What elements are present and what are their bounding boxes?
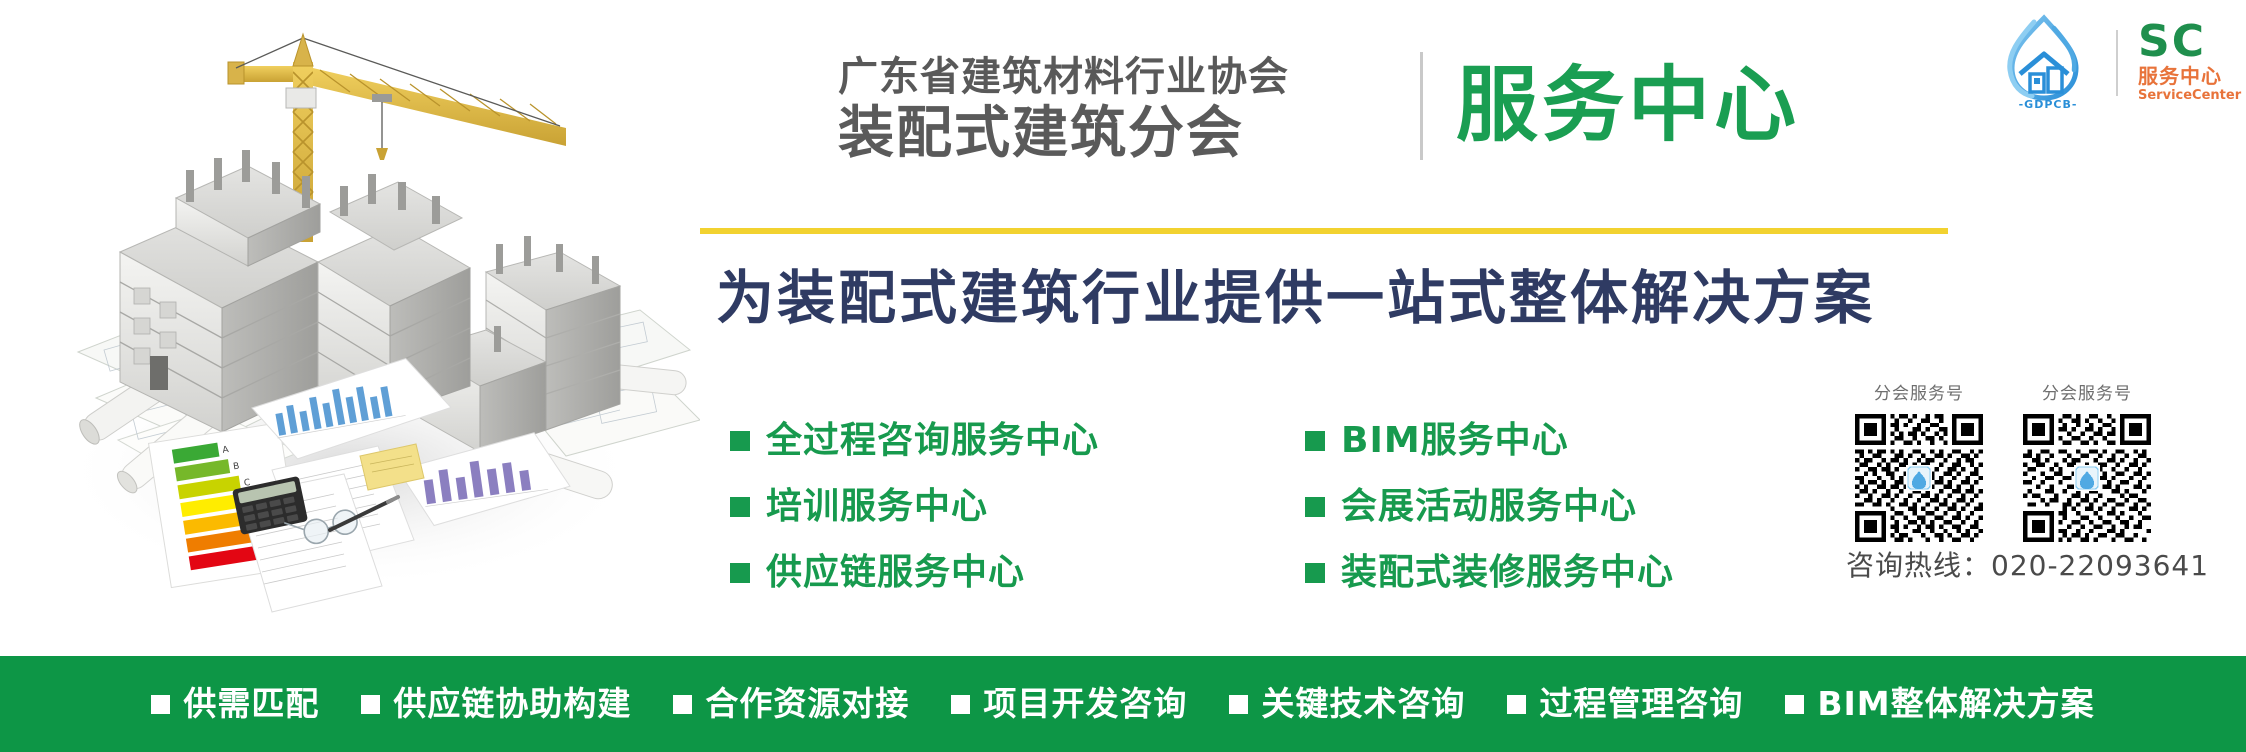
- logo-text-block: SC 服务中心 ServiceCenter: [2138, 20, 2241, 103]
- qr-code-section: 分会服务号: [1855, 382, 2205, 542]
- footer-item-label: 供应链协助构建: [393, 685, 631, 723]
- square-bullet-icon: [673, 695, 692, 714]
- association-name-line2: 装配式建筑分会: [838, 102, 1438, 166]
- qr-code-item: 分会服务号: [1855, 382, 1983, 542]
- footer-item-label: 合作资源对接: [705, 685, 909, 723]
- square-bullet-icon: [151, 695, 170, 714]
- association-title-block: 广东省建筑材料行业协会 装配式建筑分会: [838, 52, 1438, 166]
- square-bullet-icon: [730, 497, 750, 517]
- square-bullet-icon: [951, 695, 970, 714]
- service-item-label: 培训服务中心: [766, 487, 988, 527]
- service-item[interactable]: 装配式装修服务中心: [1305, 540, 1674, 606]
- footer-item[interactable]: BIM整体解决方案: [1785, 685, 2094, 723]
- footer-item[interactable]: 过程管理咨询: [1507, 685, 1743, 723]
- brand-logo[interactable]: -GDPCB- SC 服务中心 ServiceCenter: [1990, 12, 2236, 112]
- logo-chinese-text: 服务中心: [2138, 64, 2241, 88]
- service-item-label: 装配式装修服务中心: [1341, 553, 1674, 593]
- square-bullet-icon: [1229, 695, 1248, 714]
- footer-item-label: 过程管理咨询: [1539, 685, 1743, 723]
- qr-caption: 分会服务号: [1855, 382, 1983, 406]
- gdpcb-wordmark: -GDPCB-: [1996, 98, 2100, 111]
- footer-item-label: 项目开发咨询: [983, 685, 1187, 723]
- gdpcb-house-flame-icon: [1990, 12, 2102, 112]
- service-item-label: 会展活动服务中心: [1341, 487, 1637, 527]
- title-divider: [1420, 52, 1423, 160]
- square-bullet-icon: [730, 563, 750, 583]
- service-item-label: 全过程咨询服务中心: [766, 421, 1099, 461]
- square-bullet-icon: [361, 695, 380, 714]
- promotional-banner: A B C D E F G: [0, 0, 2246, 752]
- qr-caption: 分会服务号: [2023, 382, 2151, 406]
- main-slogan: 为装配式建筑行业提供一站式整体解决方案: [716, 262, 1875, 334]
- footer-item[interactable]: 项目开发咨询: [951, 685, 1187, 723]
- service-item[interactable]: BIM服务中心: [1305, 408, 1674, 474]
- footer-capability-bar: 供需匹配 供应链协助构建 合作资源对接 项目开发咨询 关键技术咨询 过程管理咨询…: [0, 656, 2246, 752]
- qr-code-image-2[interactable]: [2023, 414, 2151, 542]
- logo-divider: [2116, 30, 2118, 96]
- footer-item[interactable]: 供需匹配: [151, 685, 319, 723]
- hotline-text: 咨询热线：020-22093641: [1846, 548, 2209, 584]
- association-name-line1: 广东省建筑材料行业协会: [838, 52, 1438, 102]
- qr-code-item: 分会服务号: [2023, 382, 2151, 542]
- square-bullet-icon: [1305, 497, 1325, 517]
- service-item-label: BIM服务中心: [1341, 421, 1569, 461]
- service-item[interactable]: 全过程咨询服务中心: [730, 408, 1099, 474]
- service-item[interactable]: 培训服务中心: [730, 474, 1099, 540]
- yellow-divider-rule: [700, 228, 1948, 234]
- service-item[interactable]: 供应链服务中心: [730, 540, 1099, 606]
- service-list-left: 全过程咨询服务中心 培训服务中心 供应链服务中心: [730, 408, 1099, 606]
- service-list-right: BIM服务中心 会展活动服务中心 装配式装修服务中心: [1305, 408, 1674, 606]
- square-bullet-icon: [730, 431, 750, 451]
- footer-item-label: 关键技术咨询: [1261, 685, 1465, 723]
- footer-item-label: BIM整体解决方案: [1817, 685, 2094, 723]
- footer-item[interactable]: 关键技术咨询: [1229, 685, 1465, 723]
- construction-artwork-svg: A B C D E F G: [0, 0, 700, 640]
- qr-code-image-1[interactable]: [1855, 414, 1983, 542]
- logo-sc-text: SC: [2138, 20, 2241, 64]
- square-bullet-icon: [1785, 695, 1804, 714]
- service-center-heading: 服务中心: [1456, 52, 1800, 160]
- footer-item-label: 供需匹配: [183, 685, 319, 723]
- service-item-label: 供应链服务中心: [766, 553, 1025, 593]
- square-bullet-icon: [1305, 431, 1325, 451]
- footer-item[interactable]: 供应链协助构建: [361, 685, 631, 723]
- footer-item[interactable]: 合作资源对接: [673, 685, 909, 723]
- square-bullet-icon: [1507, 695, 1526, 714]
- construction-site-illustration: A B C D E F G: [0, 0, 700, 640]
- service-item[interactable]: 会展活动服务中心: [1305, 474, 1674, 540]
- square-bullet-icon: [1305, 563, 1325, 583]
- logo-english-text: ServiceCenter: [2138, 88, 2241, 103]
